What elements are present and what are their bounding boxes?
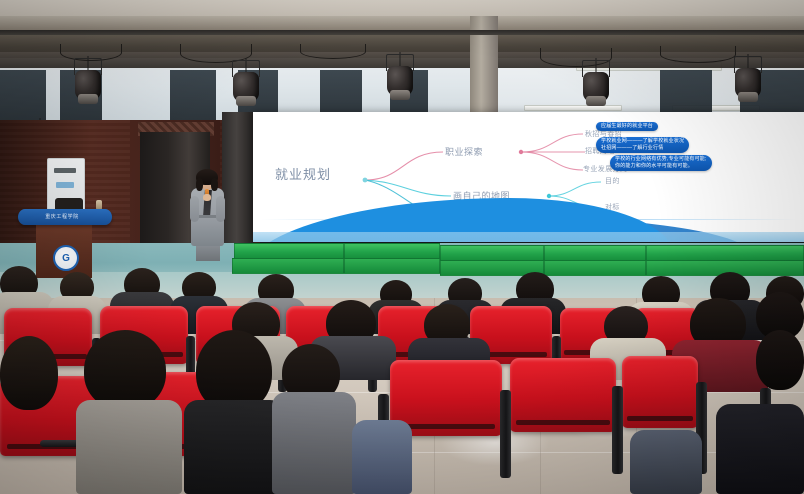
slide-callout-box: 学校就业网———了解学校就业状况 社招网———了解行业行情 (596, 137, 689, 153)
audience-shoulders (352, 420, 412, 494)
seat-armrest-post (500, 390, 511, 478)
power-cable (300, 44, 366, 59)
stage-curtain (0, 70, 46, 122)
slide-wave-base (253, 232, 804, 242)
auditorium-seat[interactable] (510, 358, 616, 432)
speaker-arm-right (216, 196, 225, 222)
stage-block (344, 243, 440, 259)
ceiling-slab (0, 0, 804, 16)
power-cable (660, 46, 736, 63)
mindmap-subnode-label: 目的 (605, 176, 620, 186)
callout-line: 应届生最好的就业平台 (601, 123, 653, 130)
stage-block (344, 258, 440, 274)
stage-block (440, 245, 544, 261)
audience-shoulders (76, 400, 182, 494)
auditorium-seat[interactable] (622, 356, 698, 428)
audience-shoulders (716, 404, 804, 494)
audience-head (84, 330, 166, 410)
speaker-hair-side (196, 178, 203, 191)
stage-block (544, 260, 646, 276)
speaker-arm-left (190, 196, 199, 222)
air-conditioner-panel (56, 182, 74, 188)
air-conditioner-vent (54, 168, 76, 173)
mindmap-central-topic: 就业规划 (275, 164, 331, 183)
speaker-hand (203, 194, 211, 201)
audience-shoulders (272, 392, 356, 494)
audience-head (756, 330, 804, 390)
seat-armrest-post (612, 386, 623, 474)
callout-line: 你的能力和你的水平可能有可能。 (615, 163, 707, 170)
stage-block (232, 258, 344, 274)
stage-block (234, 243, 344, 259)
lecture-hall-photo: 就业规划 职业探索 画自己的地图 关键时间做正确的事情 秋招与春招 招聘网站 专… (0, 0, 804, 494)
projection-screen: 就业规划 职业探索 画自己的地图 关键时间做正确的事情 秋招与春招 招聘网站 专… (253, 112, 804, 242)
stage-block (544, 245, 646, 261)
mindmap-branch-label: 职业探索 (445, 145, 483, 158)
callout-line: 学校的行业网络有优势,专业可能有可能; (615, 156, 707, 163)
slide-callout-box: 学校的行业网络有优势,专业可能有可能; 你的能力和你的水平可能有可能。 (610, 155, 712, 171)
stage-curtain (170, 70, 216, 122)
callout-line: 学校就业网———了解学校就业状况 (601, 138, 684, 145)
slide-callout-box: 应届生最好的就业平台 (596, 122, 658, 131)
podium-institution-name: 重庆工程学院 (26, 213, 98, 220)
audience-shoulders (184, 400, 284, 494)
speaker-hair-side (211, 178, 218, 191)
audience-head (0, 336, 58, 410)
stage-block (646, 245, 804, 261)
callout-line: 社招网———了解行业行情 (601, 145, 684, 152)
university-logo: G (53, 245, 79, 271)
fluorescent-tube (524, 105, 622, 111)
lighting-rail (0, 30, 804, 35)
audience-shoulders (630, 430, 702, 494)
